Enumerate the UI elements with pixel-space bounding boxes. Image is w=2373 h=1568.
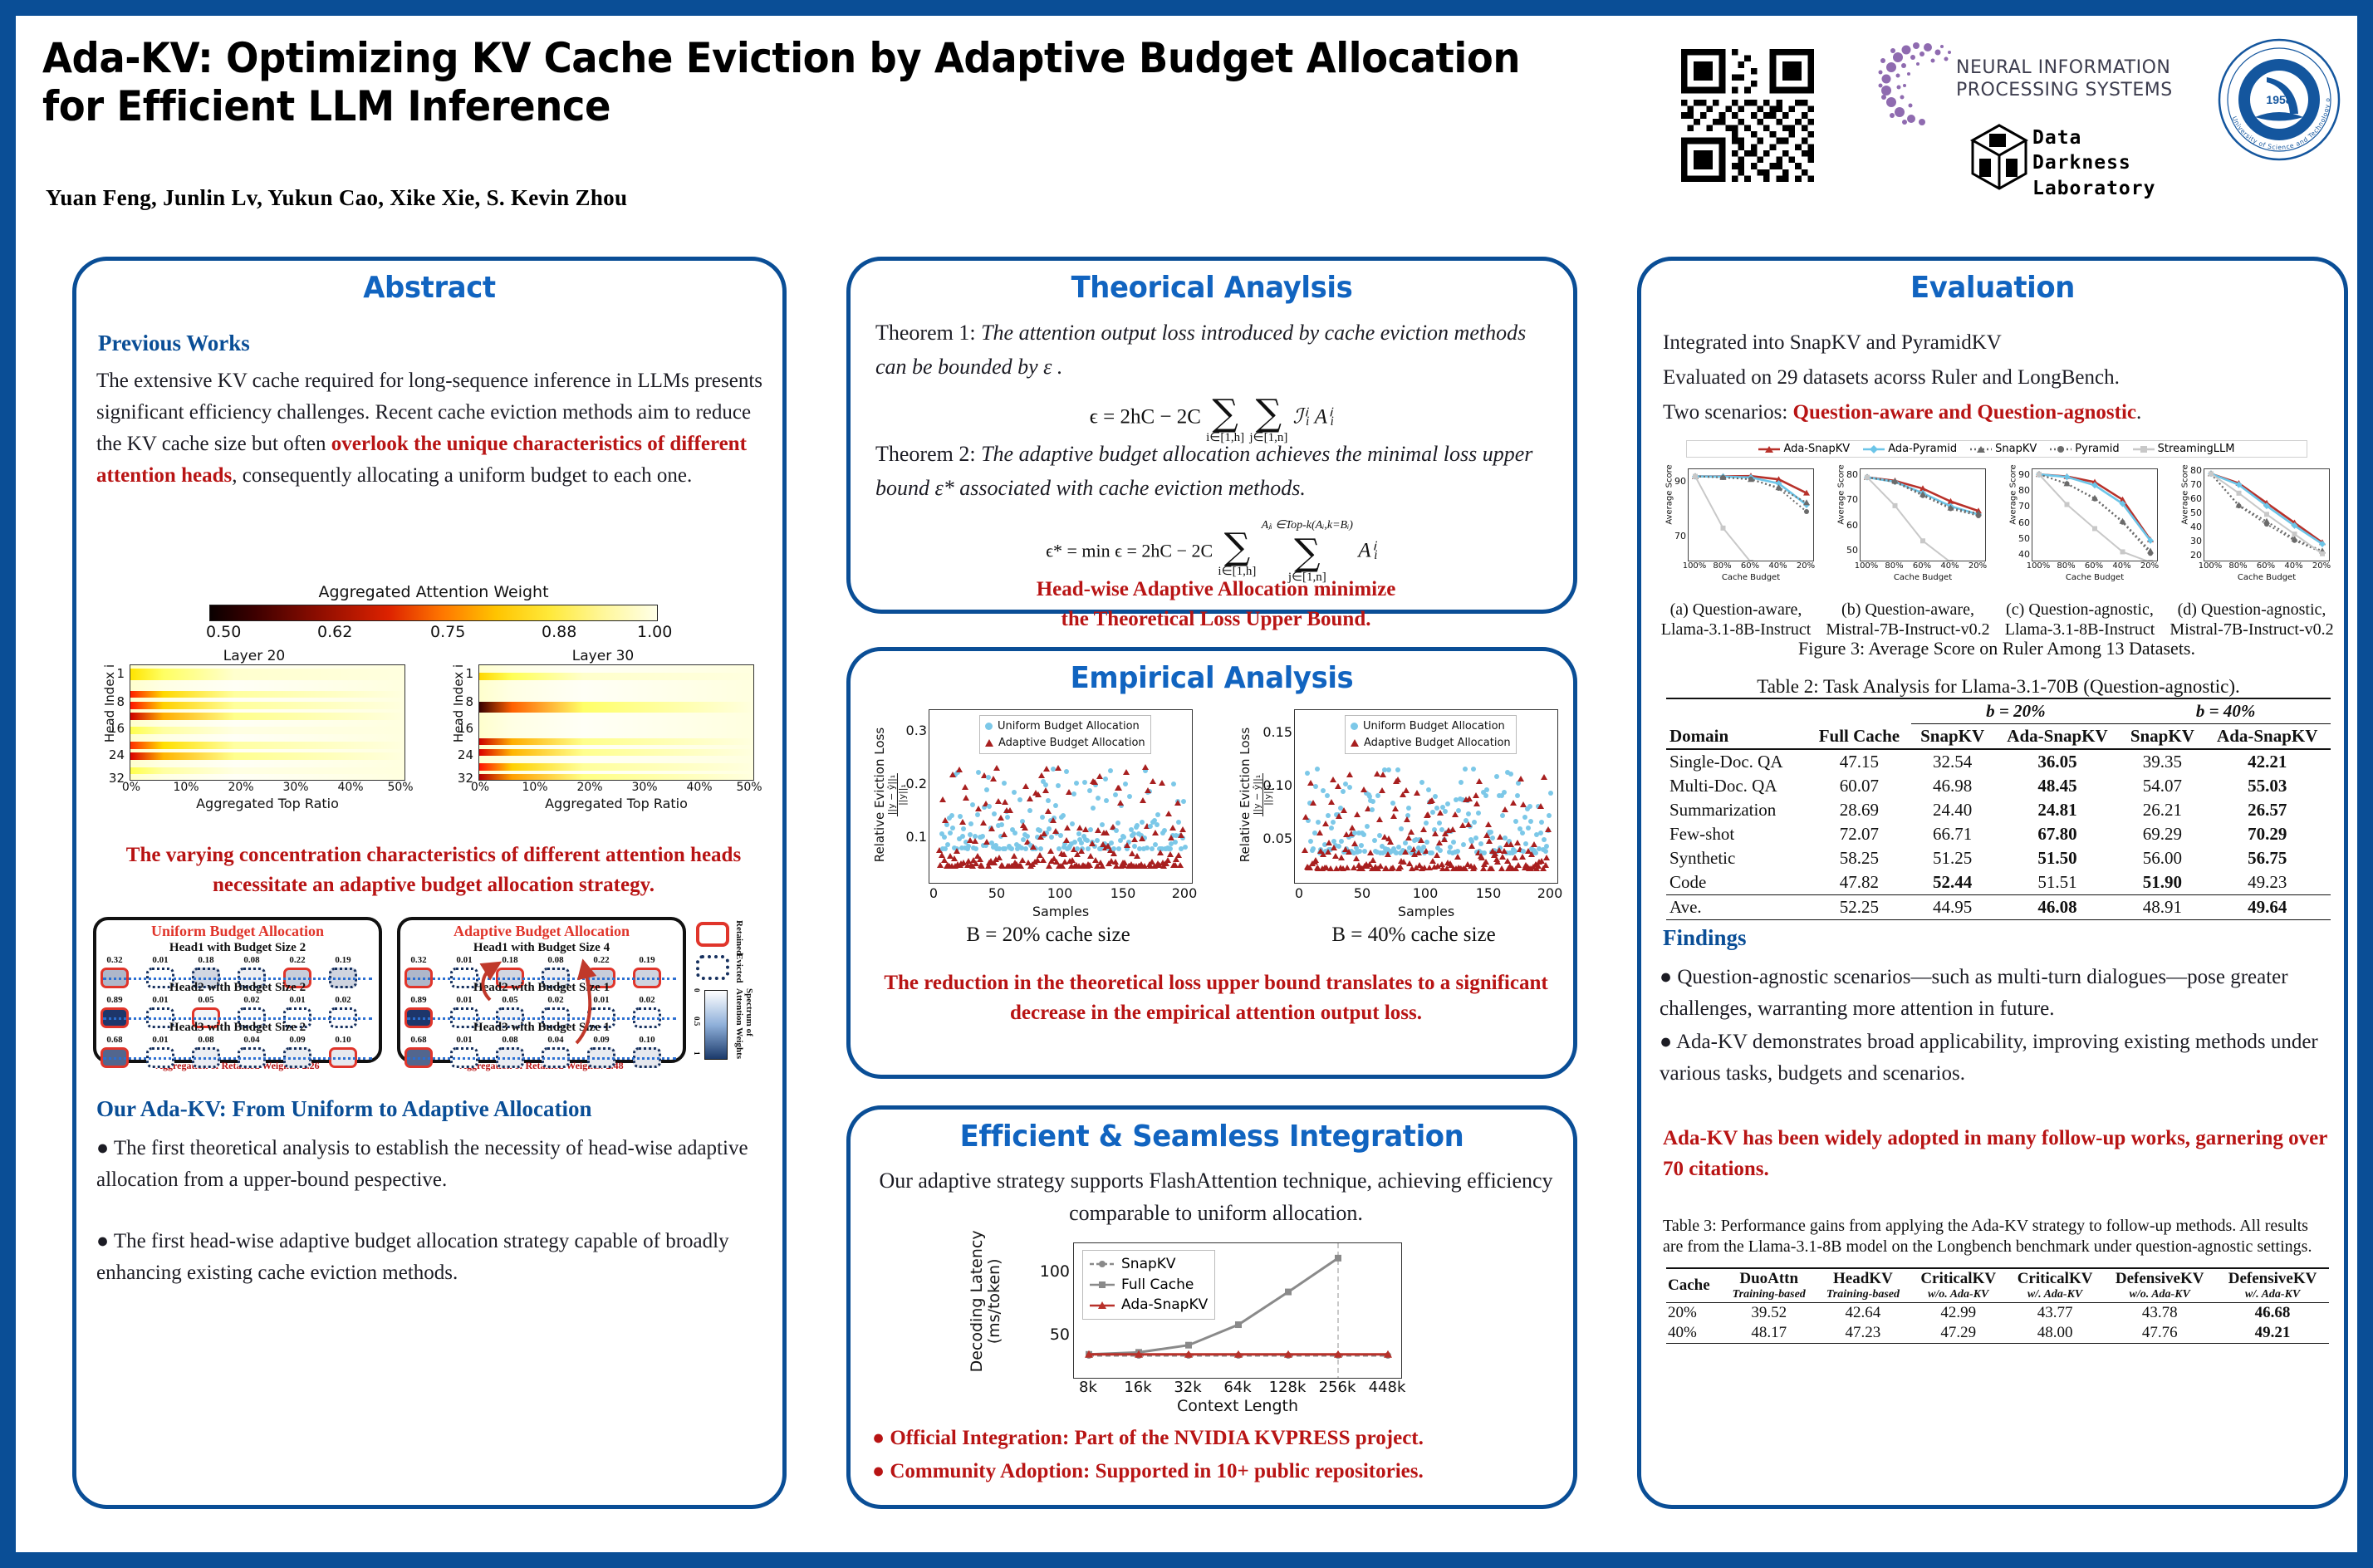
scatter-point-uniform bbox=[984, 787, 989, 792]
latency-yticks: 50 100 bbox=[1025, 1241, 1070, 1379]
budget-row-separator bbox=[103, 1017, 372, 1020]
table-3-cell-value: 43.78 bbox=[2103, 1303, 2216, 1324]
scatter-point-uniform bbox=[1370, 799, 1375, 804]
scatter-point-uniform bbox=[1071, 791, 1076, 796]
scatter-point-uniform bbox=[1426, 787, 1431, 792]
figure-3-ytick: 70 bbox=[2190, 479, 2202, 490]
table-3-col-header: DuoAttnTraining-based bbox=[1722, 1268, 1816, 1303]
scatter-point-uniform bbox=[1121, 835, 1126, 840]
table-2-cell-full: 47.15 bbox=[1807, 749, 1910, 774]
scatter-point-adaptive bbox=[1007, 807, 1013, 813]
legend-adaptive-tri-1 bbox=[1351, 739, 1359, 747]
scatter-point-uniform bbox=[1135, 823, 1140, 828]
scatter-point-uniform bbox=[1183, 845, 1188, 850]
scatter-point-adaptive bbox=[1052, 828, 1059, 834]
scatter-point-adaptive bbox=[1476, 778, 1483, 784]
table-3-col-header: DefensiveKVw/o. Ada-KV bbox=[2103, 1268, 2216, 1303]
heatmap-plot-1 bbox=[478, 664, 754, 781]
scatter-point-adaptive bbox=[1111, 850, 1117, 856]
integration-bullet-2: ● Community Adoption: Supported in 10+ p… bbox=[872, 1460, 1570, 1483]
budget-weight-row: 0.890.010.050.020.010.02 bbox=[96, 995, 379, 1007]
table-2-cell-value: 44.95 bbox=[1911, 895, 1994, 920]
legend-uniform-label-0: Uniform Budget Allocation bbox=[998, 718, 1140, 735]
figure-3-xtick: 100% bbox=[1683, 561, 1707, 571]
evaluation-line-3-plain: Two scenarios: bbox=[1663, 401, 1793, 424]
figure-3-ytick: 70 bbox=[1674, 531, 1686, 541]
scatter-point-uniform bbox=[1456, 808, 1461, 813]
scatter-point-uniform bbox=[1056, 783, 1061, 788]
scatter-point-uniform bbox=[1438, 848, 1443, 853]
table-3-col-header: DefensiveKVw/. Ada-KV bbox=[2216, 1268, 2329, 1303]
evaluation-line-3-tail: . bbox=[2136, 401, 2141, 424]
figure-3-marker bbox=[2037, 472, 2042, 477]
scatter-point-adaptive bbox=[1042, 787, 1049, 793]
figure-3-legend-label: Ada-Pyramid bbox=[1888, 443, 1957, 455]
budget-weight: 0.01 bbox=[456, 1035, 472, 1045]
scatter-point-uniform bbox=[992, 811, 997, 816]
heatmap-xlabel-1: Aggregated Top Ratio bbox=[478, 796, 754, 811]
table-rule-cell bbox=[1807, 920, 1910, 942]
figure-3-xtick: 60% bbox=[1741, 561, 1759, 571]
scatter-point-uniform bbox=[1437, 821, 1442, 826]
figure-3-xtick: 60% bbox=[1913, 561, 1931, 571]
scatter-legend-1: Uniform Budget Allocation Adaptive Budge… bbox=[1345, 715, 1517, 754]
legend-scale-2: 1 bbox=[693, 1051, 701, 1056]
scatter-point-uniform bbox=[945, 842, 950, 847]
scatter-point-uniform bbox=[1372, 838, 1377, 843]
latency-xtick: 8k bbox=[1079, 1379, 1097, 1396]
scatter-point-adaptive bbox=[1096, 773, 1103, 779]
equation-2-tail: Aⁱᵢ bbox=[1358, 540, 1378, 562]
scatter-point-uniform bbox=[1375, 793, 1380, 798]
legend-uniform-label-1: Uniform Budget Allocation bbox=[1363, 718, 1505, 735]
heatmap-xtick-0-0: 0% bbox=[122, 781, 140, 794]
table-3-col-name: CriticalKV bbox=[1912, 1270, 2005, 1288]
scatter-point-adaptive bbox=[1335, 783, 1341, 789]
table-2-cell-value: 54.07 bbox=[2121, 774, 2204, 798]
scatter-point-adaptive bbox=[1432, 831, 1439, 836]
equation-1-head: ϵ = 2hC − 2C bbox=[1090, 406, 1201, 429]
scatter-point-uniform bbox=[1443, 809, 1448, 814]
scatter-ylabel-text-0: Relative Eviction Loss bbox=[872, 728, 887, 862]
scatter-point-uniform bbox=[1049, 835, 1054, 840]
scatter-point-adaptive bbox=[1103, 830, 1110, 835]
scatter-point-adaptive bbox=[1140, 797, 1146, 803]
scatter-yticks-1: 0.05 0.10 0.15 bbox=[1256, 706, 1292, 885]
figure-3-plot-1 bbox=[1860, 468, 1986, 561]
abstract-para-plain-2: , consequently allocating a uniform budg… bbox=[232, 464, 692, 487]
scatter-point-uniform bbox=[1047, 826, 1052, 831]
table-3-col-cache: Cache bbox=[1666, 1268, 1722, 1303]
panel-theoretical-analysis: Theorical Anaylsis Theorem 1: The attent… bbox=[846, 257, 1577, 614]
scatter-point-adaptive bbox=[1380, 772, 1386, 777]
budget-weight: 0.05 bbox=[502, 995, 517, 1005]
scatter-point-adaptive bbox=[1316, 830, 1323, 835]
scatter-point-uniform bbox=[1155, 822, 1160, 827]
scatter-point-adaptive bbox=[1310, 800, 1316, 806]
scatter-ytick-1-1: 0.10 bbox=[1262, 777, 1292, 793]
scatter-xtick-1-1: 50 bbox=[1354, 885, 1370, 901]
panel-integration: Efficient & Seamless Integration Our ada… bbox=[846, 1105, 1577, 1509]
scatter-panel-b40: Relative Eviction Loss ||y − ŷ||₁ ||y||₁… bbox=[1223, 706, 1575, 955]
scatter-point-uniform bbox=[1171, 782, 1176, 786]
scatter-point-uniform bbox=[1433, 794, 1438, 799]
budget-weight: 0.04 bbox=[547, 1035, 563, 1045]
scatter-point-adaptive bbox=[1471, 864, 1478, 870]
equation-2-sum-1: ∑i∈[1,h] bbox=[1218, 526, 1256, 579]
table-2-cell-value: 51.51 bbox=[1994, 870, 2121, 895]
figure-3-xticks-0: 100%80%60%40%20% bbox=[1688, 561, 1814, 573]
scatter-point-adaptive bbox=[1510, 800, 1517, 806]
scatter-point-uniform bbox=[1053, 803, 1058, 808]
figure-3-xtick: 20% bbox=[1797, 561, 1815, 571]
scatter-point-uniform bbox=[1027, 808, 1032, 813]
evaluation-line-1: Integrated into SnapKV and PyramidKV bbox=[1663, 327, 2327, 359]
legend-adaptive-label-0: Adaptive Budget Allocation bbox=[998, 735, 1145, 752]
scatter-point-uniform bbox=[1476, 811, 1481, 816]
scatter-point-adaptive bbox=[1468, 843, 1475, 849]
figure-3-ytick: 80 bbox=[2190, 465, 2202, 476]
scatter-point-adaptive bbox=[1420, 826, 1427, 832]
scatter-xtick-1-0: 0 bbox=[1295, 885, 1303, 901]
figure-3-subcaption-line: Mistral-7B-Instruct-v0.2 bbox=[2167, 620, 2336, 639]
scatter-point-adaptive bbox=[1543, 855, 1550, 860]
figure-3-xtick: 60% bbox=[2085, 561, 2103, 571]
scatter-point-adaptive bbox=[1328, 799, 1335, 805]
table-2-cell-value: 51.50 bbox=[1994, 846, 2121, 870]
empirical-red-callout: The reduction in the theoretical loss up… bbox=[864, 968, 1568, 1027]
scatter-point-uniform bbox=[1395, 767, 1400, 772]
scatter-point-uniform bbox=[1331, 820, 1336, 825]
scatter-point-adaptive bbox=[1041, 831, 1047, 836]
scatter-point-adaptive bbox=[1488, 865, 1495, 871]
heatmap-xlabel-0: Aggregated Top Ratio bbox=[130, 796, 405, 811]
scatter-point-adaptive bbox=[963, 795, 969, 801]
scatter-point-uniform bbox=[960, 834, 965, 839]
theorem-1: Theorem 1: The attention output loss int… bbox=[875, 316, 1557, 384]
table-3-col-name: HeadKV bbox=[1817, 1270, 1908, 1288]
budget-weight: 0.32 bbox=[410, 955, 426, 965]
scatter-point-adaptive bbox=[939, 796, 946, 802]
table-row: 40%48.1747.2347.2948.0047.7649.21 bbox=[1666, 1323, 2329, 1344]
heatmap-xtick-1-4: 40% bbox=[686, 781, 712, 794]
budget-weight: 0.02 bbox=[547, 995, 563, 1005]
scatter-point-uniform bbox=[950, 826, 955, 831]
budget-weight: 0.08 bbox=[502, 1035, 517, 1045]
theorem-2: Theorem 2: The adaptive budget allocatio… bbox=[875, 437, 1565, 505]
table-2-group-1: b = 20% bbox=[1911, 698, 2121, 724]
scatter-point-uniform bbox=[1424, 840, 1429, 845]
scatter-point-adaptive bbox=[1165, 811, 1172, 816]
figure-3-xticks-1: 100%80%60%40%20% bbox=[1860, 561, 1986, 573]
scatter-point-uniform bbox=[1325, 793, 1330, 798]
figure-3-legend-marker bbox=[2050, 444, 2071, 454]
figure-3-ytick: 50 bbox=[2018, 533, 2030, 544]
scatter-point-uniform bbox=[1461, 842, 1466, 847]
table-2-cell-value: 26.57 bbox=[2204, 798, 2331, 822]
budget-head-label: Head1 with Budget Size 4 bbox=[400, 941, 683, 955]
scatter-point-uniform bbox=[1430, 810, 1435, 815]
scatter-point-uniform bbox=[1150, 846, 1155, 851]
abstract-bullet-1: ● The first theoretical analysis to esta… bbox=[96, 1133, 772, 1196]
table-2-cell-domain: Multi-Doc. QA bbox=[1666, 774, 1807, 798]
scatter-point-uniform bbox=[1058, 833, 1063, 838]
budget-head-row: Head1 with Budget Size 40.320.010.180.08… bbox=[400, 941, 683, 980]
theory-red-line-2: the Theoretical Loss Upper Bound. bbox=[867, 605, 1565, 635]
scatter-point-adaptive bbox=[1091, 779, 1098, 785]
scatter-point-adaptive bbox=[1403, 787, 1410, 793]
figure-3-marker bbox=[1865, 475, 1870, 480]
latency-xtick: 16k bbox=[1124, 1379, 1151, 1396]
legend-scale-0: 0 bbox=[693, 988, 701, 992]
latency-marker bbox=[1185, 1342, 1192, 1349]
scatter-point-adaptive bbox=[959, 819, 966, 825]
latency-xticks: 8k16k32k64k128k256k448k bbox=[1073, 1379, 1402, 1397]
figure-3-marker bbox=[2264, 512, 2269, 517]
scatter-point-uniform bbox=[1079, 840, 1084, 845]
scatter-point-adaptive bbox=[1150, 778, 1156, 784]
scatter-point-adaptive bbox=[1351, 840, 1358, 846]
figure-3-subplot-0: Average Score7090100%80%60%40%20%Cache B… bbox=[1653, 465, 1819, 598]
table-rule-cell bbox=[1910, 1344, 2007, 1363]
legend-adasnapkv-marker bbox=[1090, 1301, 1115, 1311]
scatter-point-adaptive bbox=[1078, 848, 1085, 854]
ddl-wordmark: Data Darkness Laboratory bbox=[2032, 125, 2155, 201]
scatter-point-adaptive bbox=[998, 815, 1004, 821]
scatter-point-adaptive bbox=[993, 765, 1000, 771]
evaluation-line-3-red: Question-aware and Question-agnostic bbox=[1793, 401, 2136, 424]
figure-3-xlabel-0: Cache Budget bbox=[1688, 573, 1814, 582]
scatter-point-adaptive bbox=[1418, 837, 1424, 843]
budget-allocation-diagram: Uniform Budget Allocation Head1 with Bud… bbox=[93, 917, 774, 1068]
budget-head-label: Head3 with Budget Size 1 bbox=[400, 1021, 683, 1035]
scatter-point-adaptive bbox=[1157, 850, 1164, 855]
table-3: CacheDuoAttnTraining-basedHeadKVTraining… bbox=[1666, 1267, 2329, 1362]
scatter-point-adaptive bbox=[1441, 836, 1448, 842]
budget-head-label: Head3 with Budget Size 2 bbox=[96, 1021, 379, 1035]
scatter-point-adaptive bbox=[988, 826, 995, 831]
figure-3-legend-label: Pyramid bbox=[2075, 443, 2119, 455]
budget-head-row: Head3 with Budget Size 10.680.010.080.04… bbox=[400, 1021, 683, 1060]
figure-3-line bbox=[1867, 478, 1951, 561]
scatter-point-adaptive bbox=[1514, 840, 1521, 845]
scatter-point-adaptive bbox=[956, 767, 963, 772]
budget-weight-row: 0.890.010.050.020.010.02 bbox=[400, 995, 683, 1007]
table-2-group-2: b = 40% bbox=[2121, 698, 2331, 724]
colorbar-ticks: 0.50 0.62 0.75 0.88 1.00 bbox=[184, 623, 683, 641]
colorbar-tick-3: 0.88 bbox=[542, 623, 576, 641]
scatter-point-uniform bbox=[1523, 841, 1528, 846]
figure-3-marker bbox=[2320, 551, 2325, 556]
table-3-col-name: DefensiveKV bbox=[2105, 1270, 2214, 1288]
budget-row-separator bbox=[407, 1017, 676, 1020]
scatter-point-uniform bbox=[1082, 780, 1087, 785]
table-2-cell-domain: Synthetic bbox=[1666, 846, 1807, 870]
figure-3-marker bbox=[2121, 520, 2125, 525]
scatter-point-uniform bbox=[1500, 813, 1505, 818]
scatter-point-uniform bbox=[1341, 789, 1346, 794]
scatter-point-adaptive bbox=[1353, 855, 1360, 861]
scatter-point-uniform bbox=[1088, 827, 1093, 832]
heatmap-ytick-0-0: 1 bbox=[116, 666, 125, 681]
scatter-yticks-0: 0.1 0.2 0.3 bbox=[890, 706, 927, 885]
figure-3-subcaption-line: Mistral-7B-Instruct-v0.2 bbox=[1823, 620, 1993, 639]
scatter-point-adaptive bbox=[1449, 826, 1456, 832]
scatter-point-uniform bbox=[958, 814, 963, 819]
table-2-cell-value: 32.54 bbox=[1911, 749, 1994, 774]
figure-3-marker bbox=[1777, 486, 1782, 491]
scatter-point-uniform bbox=[1005, 815, 1010, 820]
scatter-point-adaptive bbox=[1302, 814, 1309, 820]
legend-fullcache-marker bbox=[1090, 1280, 1115, 1290]
abstract-subhead-our: Our Ada-KV: From Uniform to Adaptive All… bbox=[96, 1096, 592, 1122]
table-2-cell-value: 46.98 bbox=[1911, 774, 1994, 798]
table-3-cell-value: 39.52 bbox=[1722, 1303, 1816, 1324]
budget-weight: 0.18 bbox=[198, 955, 213, 965]
heatmap-ytick-0-1: 8 bbox=[116, 694, 125, 709]
figure-3-yticks-1: 50607080 bbox=[1830, 465, 1858, 561]
scatter-point-uniform bbox=[1046, 798, 1051, 803]
table-2-cell-value: 24.81 bbox=[1994, 798, 2121, 822]
figure-3-xtick: 40% bbox=[2284, 561, 2302, 571]
table-3-cell-value: 42.99 bbox=[1910, 1303, 2007, 1324]
equation-2-head: ϵ* = min ϵ = 2hC − 2C bbox=[1046, 541, 1213, 561]
scatter-point-uniform bbox=[1544, 844, 1549, 849]
scatter-point-adaptive bbox=[954, 848, 960, 854]
scatter-point-uniform bbox=[1040, 815, 1045, 820]
budget-head-row: Head2 with Budget Size 20.890.010.050.02… bbox=[96, 981, 379, 1020]
figure-3-xtick: 20% bbox=[1969, 561, 1987, 571]
table-rule-cell bbox=[1666, 1344, 1722, 1363]
scatter-point-uniform bbox=[973, 846, 978, 851]
table-row: Multi-Doc. QA60.0746.9848.4554.0755.03 bbox=[1666, 774, 2331, 798]
scatter-point-uniform bbox=[1109, 840, 1114, 845]
table-3-cell-value: 49.21 bbox=[2216, 1323, 2329, 1344]
budget-weight: 0.02 bbox=[335, 995, 351, 1005]
budget-weight: 0.08 bbox=[198, 1035, 213, 1045]
scatter-point-adaptive bbox=[1392, 806, 1399, 811]
legend-retained-label: Retained bbox=[734, 920, 744, 955]
scatter-point-uniform bbox=[1115, 821, 1120, 826]
abstract-title: Abstract bbox=[98, 271, 762, 305]
scatter-point-adaptive bbox=[1361, 786, 1367, 792]
equation-2-topk: Aⱼᵢ ∈Top-k(Aᵢ,k=Bᵢ) bbox=[1262, 520, 1353, 532]
scatter-point-uniform bbox=[1091, 806, 1096, 811]
scatter-ytick-1-2: 0.15 bbox=[1262, 724, 1292, 740]
table-row: Synthetic58.2551.2551.5056.0056.75 bbox=[1666, 846, 2331, 870]
scatter-panel-b20: Relative Eviction Loss ||y − ŷ||₁ ||y||₁… bbox=[857, 706, 1209, 955]
table-row: Code47.8252.4451.5151.9049.23 bbox=[1666, 870, 2331, 895]
figure-3-xticks-2: 100%80%60%40%20% bbox=[2032, 561, 2158, 573]
heatmap-xticks-0: 0% 10% 20% 30% 40% 50% bbox=[130, 781, 405, 796]
figure-3-caption: Figure 3: Average Score on Ruler Among 1… bbox=[1653, 638, 2341, 659]
scatter-xlabel-0: Samples bbox=[929, 904, 1193, 919]
figure-3-marker bbox=[1748, 477, 1753, 482]
neurips-logo: NEURAL INFORMATION PROCESSING SYSTEMS bbox=[1876, 39, 2192, 130]
scatter-point-uniform bbox=[1365, 824, 1370, 829]
scatter-point-uniform bbox=[949, 813, 954, 818]
heatmap-xtick-0-4: 40% bbox=[337, 781, 363, 794]
budget-weight: 0.01 bbox=[289, 995, 305, 1005]
table-2-cell-full: 52.25 bbox=[1807, 895, 1910, 920]
scatter-point-uniform bbox=[1064, 769, 1069, 774]
table-2-cell-value: 46.08 bbox=[1994, 895, 2121, 920]
qr-code-icon[interactable] bbox=[1681, 49, 1814, 182]
author-list: Yuan Feng, Junlin Lv, Yukun Cao, Xike Xi… bbox=[46, 185, 627, 211]
figure-3-subcaption-line: Llama-3.1-8B-Instruct bbox=[1651, 620, 1821, 639]
scatter-point-uniform bbox=[1419, 780, 1424, 785]
latency-xlabel: Context Length bbox=[1073, 1397, 1402, 1415]
scatter-point-uniform bbox=[1023, 846, 1028, 851]
legend-evicted-swatch bbox=[696, 955, 729, 980]
poster-sheet: Ada-KV: Optimizing KV Cache Eviction by … bbox=[12, 12, 2361, 1556]
scatter-point-uniform bbox=[1148, 824, 1153, 829]
heatmap-xtick-0-2: 20% bbox=[228, 781, 253, 794]
scatter-point-uniform bbox=[948, 831, 953, 835]
scatter-point-uniform bbox=[1074, 781, 1079, 786]
ddl-line-2: Darkness bbox=[2032, 150, 2155, 175]
figure-3-ytick: 90 bbox=[1674, 476, 1686, 487]
budget-weight: 0.08 bbox=[243, 955, 259, 965]
scatter-point-adaptive bbox=[1040, 857, 1047, 863]
colorbar-tick-0: 0.50 bbox=[206, 623, 241, 641]
legend-adaptive-tri-0 bbox=[985, 739, 993, 747]
budget-weight: 0.01 bbox=[152, 955, 168, 965]
figure-3-marker bbox=[2065, 502, 2070, 507]
scatter-point-uniform bbox=[1527, 804, 1532, 809]
scatter-point-adaptive bbox=[1169, 825, 1176, 831]
figure-3-legend-marker bbox=[2133, 444, 2155, 454]
theory-red-line-1: Head-wise Adaptive Allocation minimize bbox=[867, 575, 1565, 605]
budget-weight: 0.19 bbox=[335, 955, 351, 965]
scatter-point-uniform bbox=[1516, 781, 1521, 786]
table-3-cell-value: 48.17 bbox=[1722, 1323, 1816, 1344]
scatter-point-uniform bbox=[1103, 777, 1108, 782]
heatmap-panels: Layer 20 1 8 16 24 32 Head Index i bbox=[91, 648, 776, 824]
scatter-point-uniform bbox=[968, 821, 973, 826]
figure-3-subplot-2: Average Score405060708090100%80%60%40%20… bbox=[1997, 465, 2163, 598]
scatter-point-adaptive bbox=[1541, 774, 1547, 780]
latency-marker bbox=[1335, 1255, 1341, 1262]
scatter-point-adaptive bbox=[1379, 787, 1385, 793]
panel-empirical-analysis: Empirical Analysis Relative Eviction Los… bbox=[846, 647, 1577, 1079]
scatter-point-uniform bbox=[1305, 771, 1310, 776]
legend-spectrum-bar bbox=[704, 990, 728, 1060]
scatter-point-uniform bbox=[1370, 807, 1375, 812]
figure-3-marker bbox=[1949, 507, 1954, 512]
scatter-point-adaptive bbox=[1045, 808, 1052, 814]
scatter-xtick-1-3: 150 bbox=[1476, 885, 1502, 901]
figure-3-xlabel-2: Cache Budget bbox=[2032, 573, 2158, 582]
figure-3-marker bbox=[1920, 538, 1925, 543]
scatter-point-adaptive bbox=[1022, 825, 1028, 831]
scatter-point-adaptive bbox=[1124, 842, 1130, 848]
scatter-point-uniform bbox=[1038, 846, 1043, 851]
scatter-point-adaptive bbox=[1517, 776, 1524, 782]
scatter-point-adaptive bbox=[1055, 765, 1061, 771]
scatter-point-uniform bbox=[1086, 846, 1091, 851]
figure-3: Ada-SnapKVAda-PyramidSnapKVPyramidStream… bbox=[1653, 440, 2341, 653]
table-2-cell-domain: Few-shot bbox=[1666, 822, 1807, 846]
figure-3-subcaption-line: Llama-3.1-8B-Instruct bbox=[1995, 620, 2165, 639]
scatter-xticks-0: 0 50 100 150 200 bbox=[929, 885, 1193, 902]
scatter-xtick-0-1: 50 bbox=[988, 885, 1005, 901]
figure-3-plot-0 bbox=[1688, 468, 1814, 561]
latency-ylabel-text: Decoding Latency (ms/token) bbox=[968, 1230, 1003, 1372]
latency-chart: Decoding Latency (ms/token) 50 100 SnapK… bbox=[975, 1241, 1457, 1417]
scatter-point-adaptive bbox=[1179, 826, 1186, 832]
scatter-point-adaptive bbox=[1002, 799, 1008, 805]
